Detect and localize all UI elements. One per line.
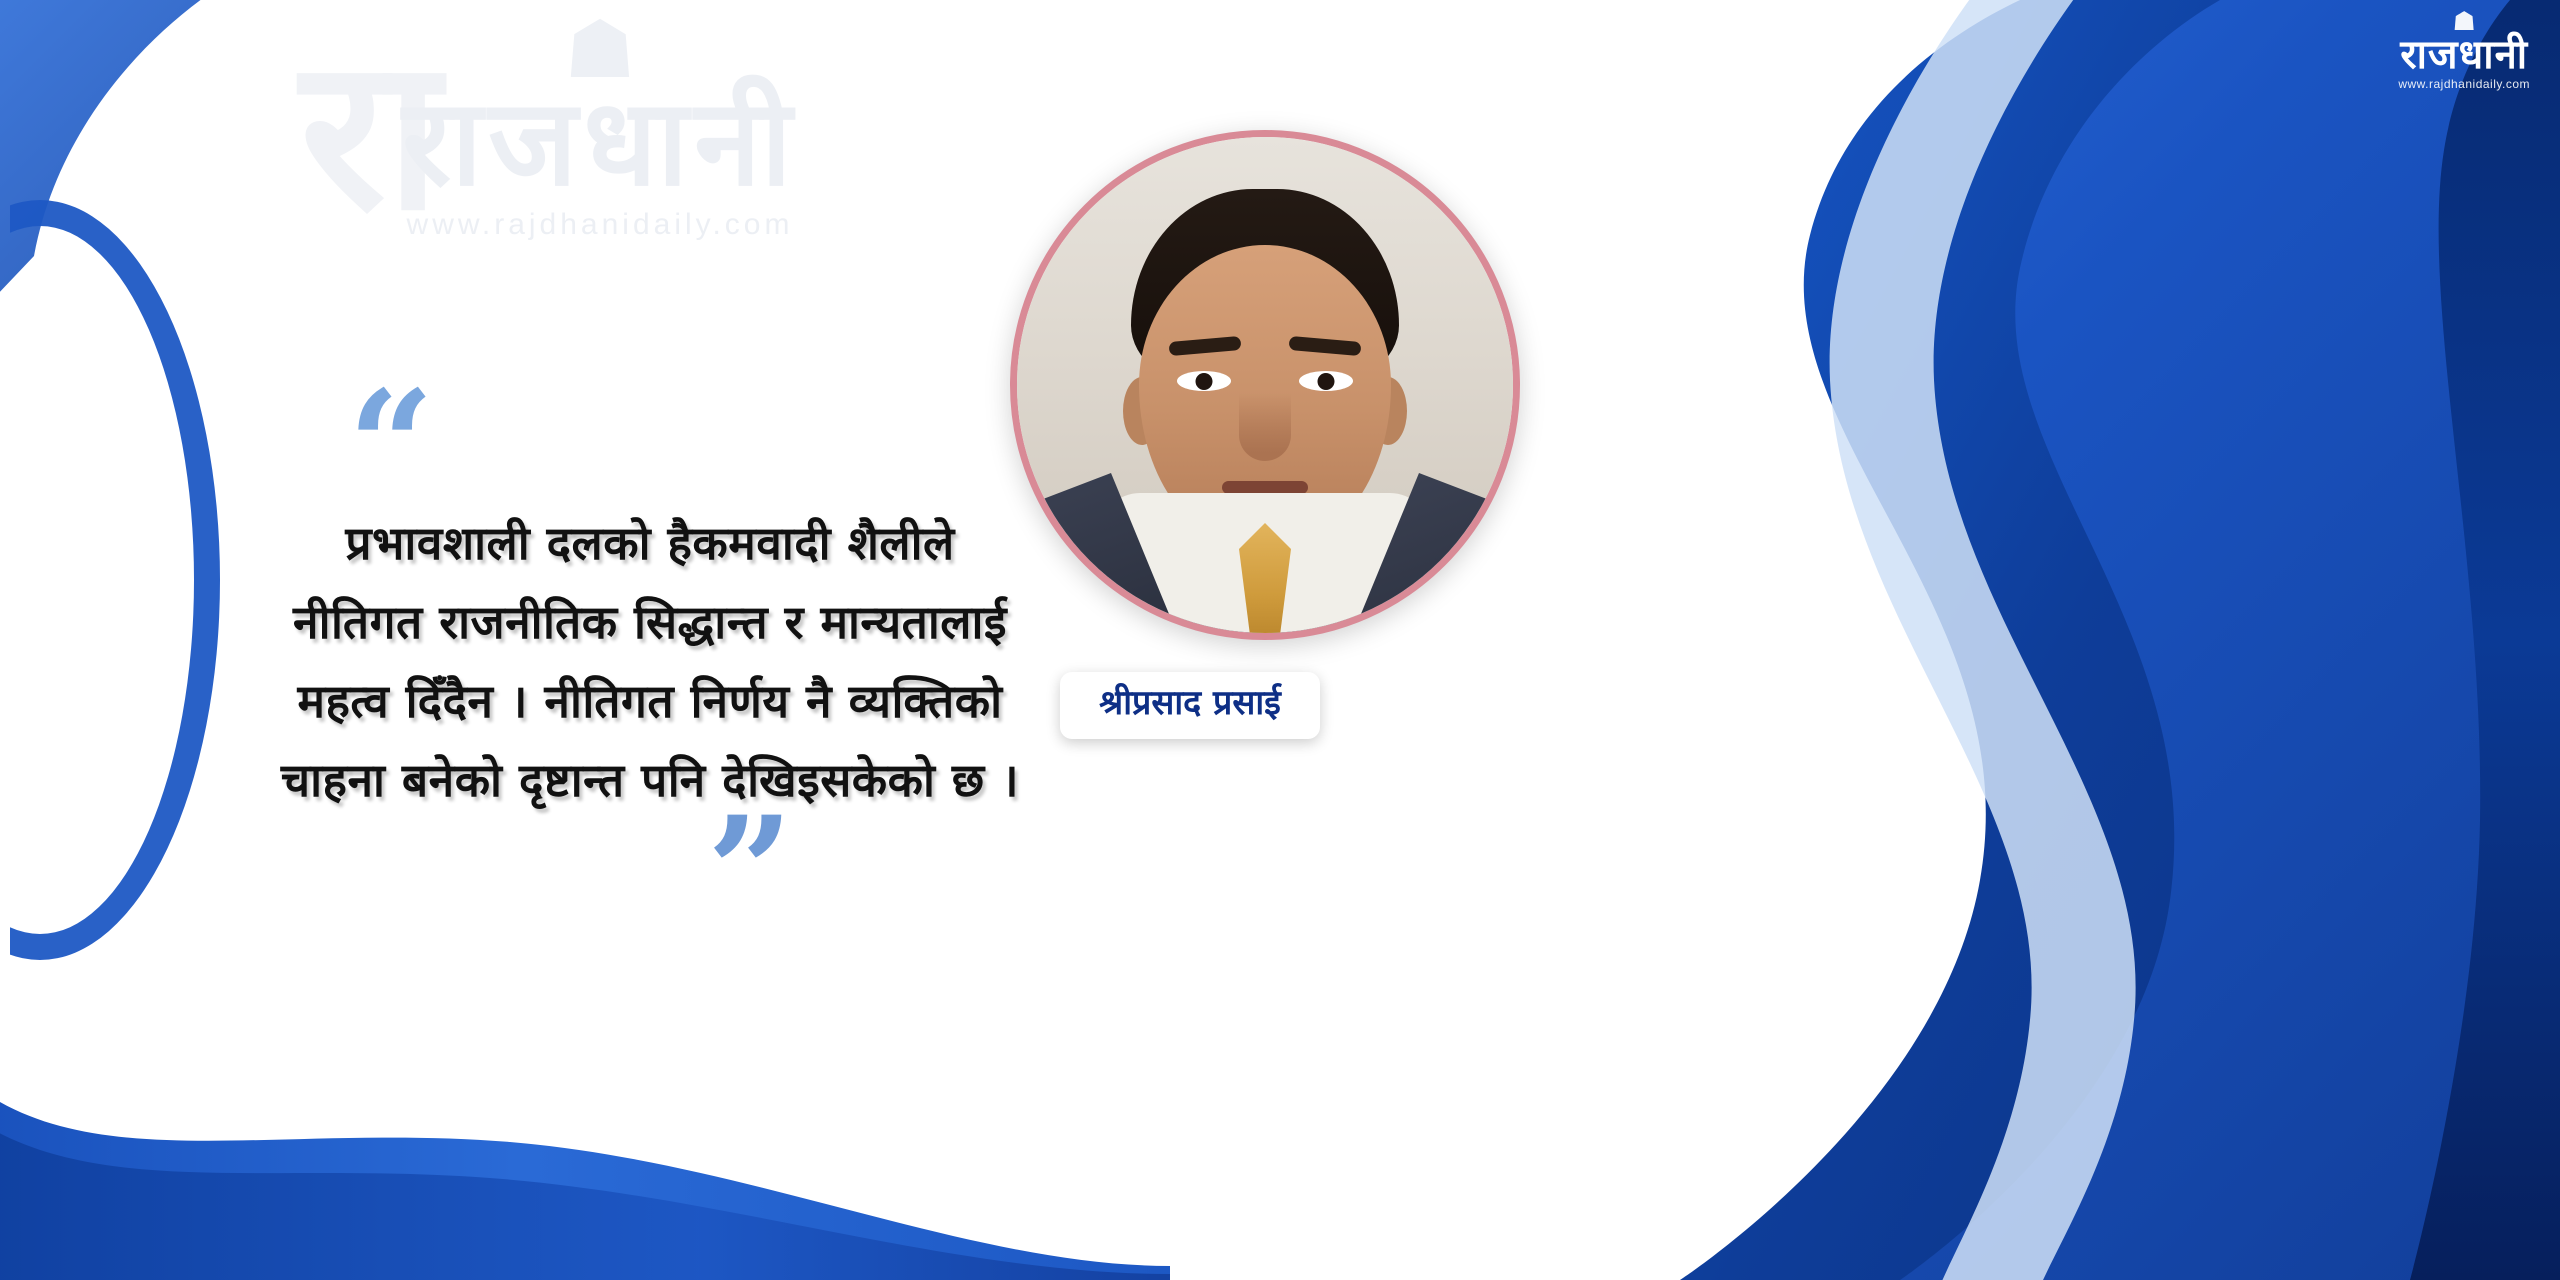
portrait-photo — [1017, 137, 1513, 633]
quote-line: महत्व दिँदैन । नीतिगत निर्णय नै व्यक्तिक… — [170, 662, 1130, 741]
person-name-plate: श्रीप्रसाद प्रसाई — [1060, 672, 1320, 739]
portrait-eye — [1299, 371, 1353, 391]
portrait-eye — [1177, 371, 1231, 391]
brand-logo-name: राजधानी — [2398, 34, 2530, 76]
brand-logo-url: www.rajdhanidaily.com — [2398, 77, 2530, 91]
quote-block: “ प्रभावशाली दलको हैकमवादी शैलीले नीतिगत… — [170, 400, 1130, 922]
brand-logo[interactable]: ☗ राजधानी www.rajdhanidaily.com — [2398, 8, 2530, 91]
portrait-avatar — [1010, 130, 1520, 640]
quote-text: प्रभावशाली दलको हैकमवादी शैलीले नीतिगत र… — [170, 504, 1130, 820]
temple-crest-icon: ☗ — [2398, 8, 2530, 34]
quote-line: चाहना बनेको दृष्टान्त पनि देखिइसकेको छ । — [170, 741, 1130, 820]
quote-close-icon: ” — [170, 826, 1130, 922]
quote-card-canvas: रा ☗ राजधानी www.rajdhanidaily.com ☗ राज… — [0, 0, 2560, 1280]
portrait-nose — [1239, 393, 1291, 461]
person-name: श्रीप्रसाद प्रसाई — [1086, 682, 1294, 725]
quote-line: प्रभावशाली दलको हैकमवादी शैलीले — [170, 504, 1130, 583]
quote-line: नीतिगत राजनीतिक सिद्धान्त र मान्यतालाई — [170, 583, 1130, 662]
